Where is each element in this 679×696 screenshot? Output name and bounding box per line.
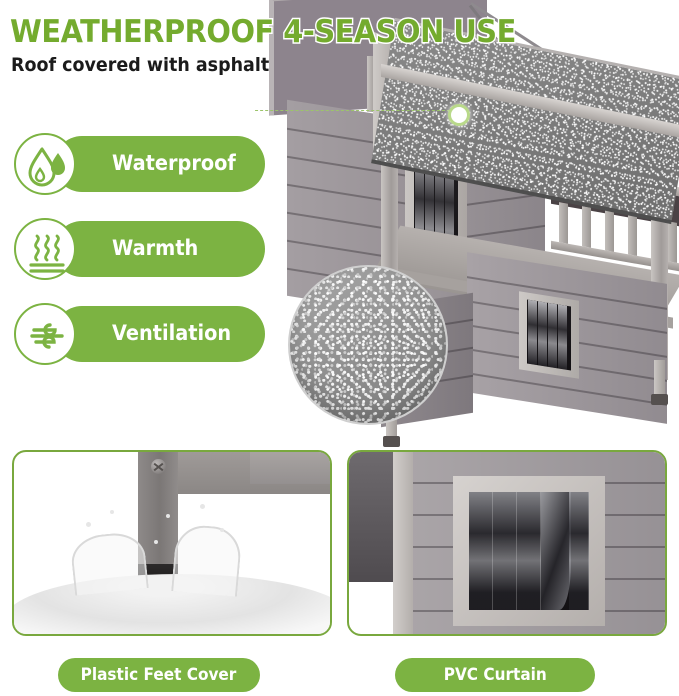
- page-subtitle: Roof covered with asphalt: [11, 54, 269, 76]
- water-droplet: [166, 514, 170, 518]
- asphalt-texture-callout: [288, 265, 448, 425]
- caption-plastic-feet-cover: Plastic Feet Cover: [58, 658, 260, 692]
- corner-post: [393, 452, 413, 636]
- water-droplet: [200, 504, 205, 509]
- water-droplet: [220, 528, 224, 532]
- water-droplet-icon: [14, 133, 76, 195]
- water-splash-right: [171, 523, 243, 596]
- page-title: WEATHERPROOF 4-SEASON USE: [10, 14, 516, 50]
- pvc-curtain-opening: [469, 492, 589, 610]
- detail-panel-plastic-feet: [12, 450, 332, 636]
- water-splash-left: [69, 530, 149, 595]
- infographic-root: WEATHERPROOF 4-SEASON USE Roof covered w…: [0, 0, 679, 696]
- house-frame-beam-upper: [250, 450, 332, 484]
- lower-entrance-opening: [527, 300, 571, 371]
- detail-panel-pvc-curtain: [347, 450, 667, 636]
- feature-label: Warmth: [112, 236, 198, 260]
- water-droplet: [154, 540, 158, 544]
- lower-entrance-frame: [519, 291, 579, 379]
- screw-head-icon: [151, 459, 166, 474]
- doorway-frame: [453, 476, 605, 626]
- plastic-foot-front-left: [383, 436, 400, 447]
- wind-flow-icon: [14, 303, 76, 365]
- heat-waves-icon: [14, 218, 76, 280]
- callout-guide-lines: [255, 110, 450, 288]
- callout-origin-marker: [448, 104, 470, 126]
- caption-pvc-curtain: PVC Curtain: [395, 658, 595, 692]
- caption-text: Plastic Feet Cover: [81, 665, 237, 685]
- caption-text: PVC Curtain: [443, 665, 546, 685]
- feature-label: Ventilation: [112, 321, 231, 345]
- plastic-foot-front-right: [651, 394, 668, 405]
- leg-front-right: [654, 360, 665, 398]
- shaded-background-area: [349, 452, 395, 582]
- water-droplet: [86, 522, 91, 527]
- feature-label: Waterproof: [112, 151, 236, 175]
- water-droplet: [110, 510, 114, 514]
